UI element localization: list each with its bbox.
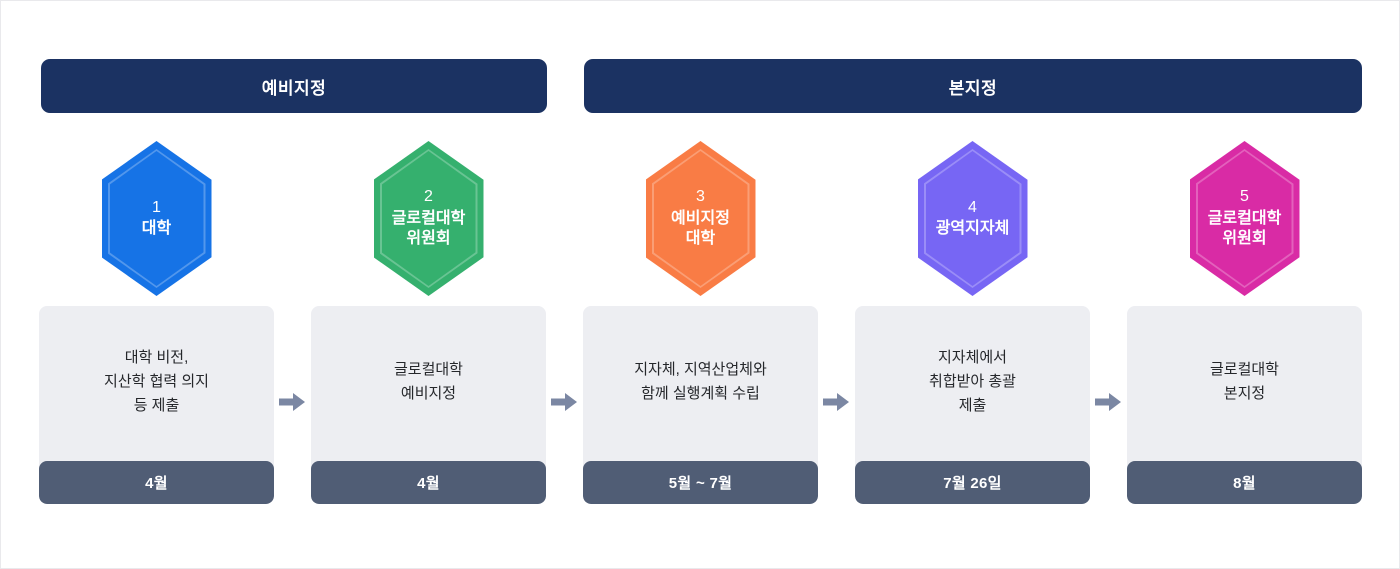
- step-period-bar: 4월: [39, 461, 274, 504]
- step-hexagon-wrap: 2 글로컬대학 위원회: [311, 141, 546, 306]
- step-hexagon: 1 대학: [102, 141, 212, 296]
- phase-header-label: 예비지정: [262, 74, 327, 99]
- step-hexagon: 2 글로컬대학 위원회: [374, 141, 484, 296]
- step-actor: 광역지자체: [936, 219, 1010, 239]
- step-description: 글로컬대학 본지정: [1210, 358, 1279, 406]
- step-card: 글로컬대학 예비지정 4월: [311, 306, 546, 504]
- step-period-bar: 4월: [311, 461, 546, 504]
- step-period: 4월: [145, 472, 168, 493]
- step-hexagon-wrap: 4 광역지자체: [855, 141, 1090, 306]
- arrow-right-icon: [279, 392, 305, 412]
- arrow-right-icon: [1095, 392, 1121, 412]
- step-hexagon-wrap: 5 글로컬대학 위원회: [1127, 141, 1362, 306]
- arrow-right-icon: [551, 392, 577, 412]
- process-step-2: 2 글로컬대학 위원회 글로컬대학 예비지정 4월: [311, 141, 546, 504]
- arrow-right-icon: [823, 392, 849, 412]
- step-hexagon-wrap: 3 예비지정 대학: [583, 141, 818, 306]
- step-actor: 대학: [142, 219, 171, 239]
- step-card-body: 지자체에서 취합받아 총괄 제출: [855, 306, 1090, 458]
- process-step-1: 1 대학 대학 비전, 지산학 협력 의지 등 제출 4월: [39, 141, 274, 504]
- step-actor: 글로컬대학 위원회: [392, 209, 466, 250]
- process-step-5: 5 글로컬대학 위원회 글로컬대학 본지정 8월: [1127, 141, 1362, 504]
- step-number: 2: [392, 187, 466, 207]
- step-card: 지자체에서 취합받아 총괄 제출 7월 26일: [855, 306, 1090, 504]
- phase-header-main: 본지정: [584, 59, 1362, 113]
- step-number: 1: [142, 198, 171, 218]
- step-period-bar: 8월: [1127, 461, 1362, 504]
- step-period-bar: 5월 ~ 7월: [583, 461, 818, 504]
- step-period: 7월 26일: [943, 472, 1002, 493]
- hexagon-text: 1 대학: [140, 198, 173, 240]
- step-number: 4: [936, 198, 1010, 218]
- step-period: 5월 ~ 7월: [669, 472, 732, 493]
- step-card-body: 글로컬대학 예비지정: [311, 306, 546, 458]
- glocal-university-process-diagram: 예비지정 본지정 1 대학 대학 비전, 지산학 협력 의지 등 제출 4월: [0, 0, 1400, 569]
- hexagon-text: 3 예비지정 대학: [669, 187, 732, 249]
- step-period: 4월: [417, 472, 440, 493]
- step-card: 글로컬대학 본지정 8월: [1127, 306, 1362, 504]
- step-number: 3: [671, 187, 730, 207]
- step-card: 대학 비전, 지산학 협력 의지 등 제출 4월: [39, 306, 274, 504]
- step-actor: 글로컬대학 위원회: [1208, 209, 1282, 250]
- step-number: 5: [1208, 187, 1282, 207]
- phase-header-preliminary: 예비지정: [41, 59, 547, 113]
- phase-header-label: 본지정: [949, 74, 997, 99]
- step-hexagon: 4 광역지자체: [918, 141, 1028, 296]
- hexagon-text: 5 글로컬대학 위원회: [1206, 187, 1284, 249]
- step-card-body: 대학 비전, 지산학 협력 의지 등 제출: [39, 306, 274, 458]
- step-period-bar: 7월 26일: [855, 461, 1090, 504]
- step-hexagon: 5 글로컬대학 위원회: [1190, 141, 1300, 296]
- process-step-3: 3 예비지정 대학 지자체, 지역산업체와 함께 실행계획 수립 5월 ~ 7월: [583, 141, 818, 504]
- step-description: 대학 비전, 지산학 협력 의지 등 제출: [104, 346, 209, 418]
- step-description: 지자체, 지역산업체와 함께 실행계획 수립: [634, 358, 767, 406]
- hexagon-text: 4 광역지자체: [934, 198, 1012, 240]
- step-description: 글로컬대학 예비지정: [394, 358, 463, 406]
- hexagon-text: 2 글로컬대학 위원회: [390, 187, 468, 249]
- step-hexagon: 3 예비지정 대학: [646, 141, 756, 296]
- step-hexagon-wrap: 1 대학: [39, 141, 274, 306]
- step-card: 지자체, 지역산업체와 함께 실행계획 수립 5월 ~ 7월: [583, 306, 818, 504]
- step-description: 지자체에서 취합받아 총괄 제출: [929, 346, 1016, 418]
- step-card-body: 글로컬대학 본지정: [1127, 306, 1362, 458]
- process-step-4: 4 광역지자체 지자체에서 취합받아 총괄 제출 7월 26일: [855, 141, 1090, 504]
- step-period: 8월: [1233, 472, 1256, 493]
- step-actor: 예비지정 대학: [671, 209, 730, 250]
- step-card-body: 지자체, 지역산업체와 함께 실행계획 수립: [583, 306, 818, 458]
